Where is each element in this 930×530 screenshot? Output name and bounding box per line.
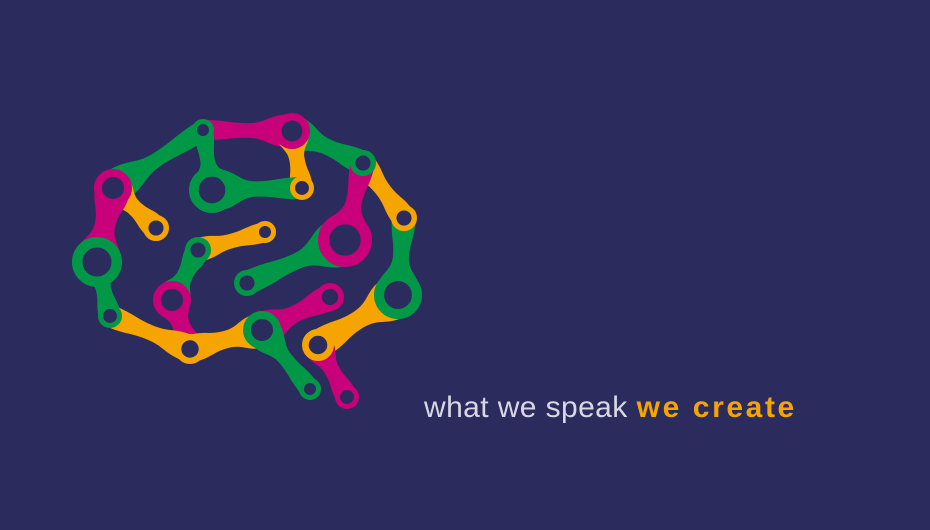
brain-node-ring	[293, 179, 312, 198]
brain-node-ring	[379, 276, 417, 314]
tagline-light-text: what we speak	[424, 388, 628, 428]
brain-node-ring	[353, 153, 374, 174]
brain-node-ring	[302, 381, 319, 398]
brain-node-ring	[319, 286, 341, 308]
brain-node-ring	[101, 307, 120, 326]
node-group	[77, 117, 417, 407]
brain-node-ring	[77, 242, 117, 282]
brain-node-ring	[188, 240, 209, 261]
brain-node-ring	[247, 315, 277, 345]
tagline: what we speak we create	[424, 388, 797, 428]
brain-node-ring	[394, 208, 415, 229]
brain-node-ring	[305, 332, 330, 357]
brain-node-ring	[178, 337, 202, 361]
brain-node-ring	[194, 172, 230, 208]
tagline-bold-text: we create	[637, 388, 797, 428]
brain-node-ring	[278, 117, 306, 145]
brain-node-ring	[237, 273, 258, 294]
canvas: what we speak we create	[0, 0, 930, 530]
brain-node-ring	[338, 388, 357, 407]
brain-node-ring	[157, 285, 187, 315]
brain-node-ring	[195, 122, 212, 139]
brain-node-ring	[98, 173, 128, 203]
brain-network-logo	[0, 0, 930, 530]
brain-node-ring	[257, 224, 274, 241]
brain-node-ring	[324, 219, 367, 262]
brain-node-ring	[146, 218, 167, 239]
tagline-spacer	[628, 388, 637, 428]
